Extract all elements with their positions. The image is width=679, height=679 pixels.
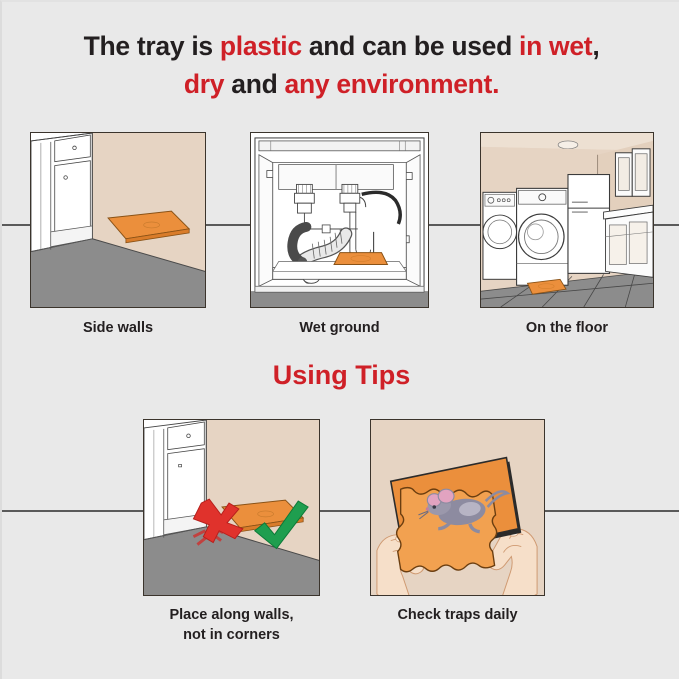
connector-line-right-edge — [654, 224, 679, 226]
headline-text-3: , — [592, 31, 599, 61]
connector-line-2 — [429, 224, 480, 226]
headline-highlight-plastic: plastic — [220, 31, 302, 61]
caption-text-line-2: not in corners — [133, 626, 330, 646]
connector-line-bottom-right-edge — [545, 510, 679, 512]
caption-wet-ground: Wet ground — [250, 319, 429, 339]
section-title-using-tips: Using Tips — [2, 360, 679, 391]
connector-line-3 — [320, 510, 370, 512]
caption-text-line-1: Place along walls, — [133, 606, 330, 626]
headline-text-1: The tray is — [84, 31, 220, 61]
caption-place-along-walls: Place along walls, not in corners — [133, 606, 330, 645]
caption-check-traps-daily: Check traps daily — [370, 606, 545, 626]
panel-on-the-floor[interactable] — [480, 132, 654, 308]
scene-hands-holding-trap — [371, 420, 544, 595]
headline-text-4: and — [224, 69, 284, 99]
headline-line-2: dry and any environment. — [2, 66, 679, 104]
caption-on-the-floor: On the floor — [480, 319, 654, 339]
caption-text: Wet ground — [299, 320, 379, 336]
page-headline: The tray is plastic and can be used in w… — [2, 28, 679, 103]
infographic-page: The tray is plastic and can be used in w… — [0, 0, 679, 679]
headline-highlight-in-wet: in wet — [519, 31, 592, 61]
headline-highlight-any-environment: any environment. — [285, 69, 500, 99]
connector-line-1 — [205, 224, 251, 226]
caption-side-walls: Side walls — [30, 319, 206, 339]
caption-text: Side walls — [83, 320, 153, 336]
headline-line-1: The tray is plastic and can be used in w… — [2, 28, 679, 66]
panel-place-along-walls[interactable] — [143, 419, 320, 596]
panel-side-walls[interactable] — [30, 132, 206, 308]
caption-text-line-1: Check traps daily — [370, 606, 545, 626]
scene-corner-placement — [144, 420, 319, 595]
scene-kitchen-corner — [31, 133, 205, 307]
panel-check-traps-daily[interactable] — [370, 419, 545, 596]
headline-highlight-dry: dry — [184, 69, 224, 99]
caption-text: On the floor — [526, 320, 608, 336]
scene-laundry-room — [481, 133, 653, 307]
connector-line-left-edge — [2, 224, 31, 226]
scene-under-sink — [251, 133, 428, 307]
panel-wet-ground[interactable] — [250, 132, 429, 308]
connector-line-bottom-left-edge — [2, 510, 143, 512]
headline-text-2: and can be used — [302, 31, 519, 61]
